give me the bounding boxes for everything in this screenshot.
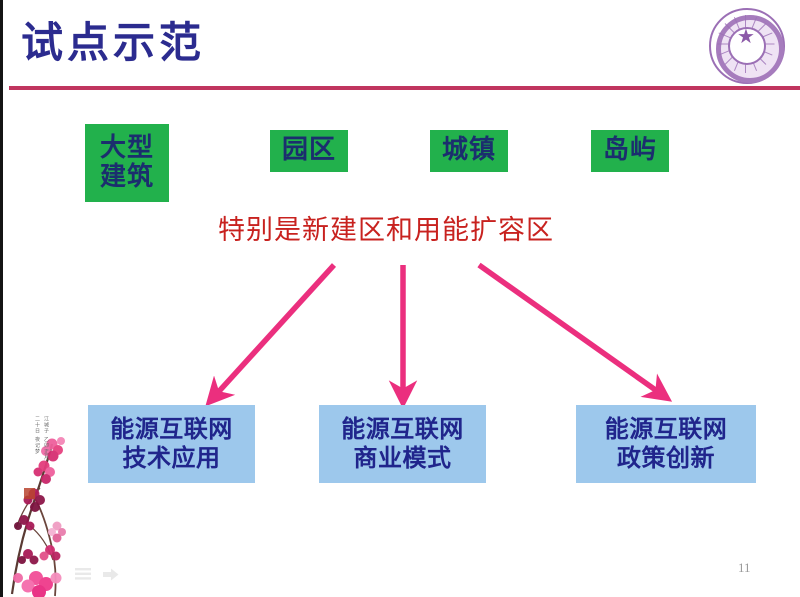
category-label-line: 大型 <box>100 134 154 163</box>
arrow-right <box>479 265 664 396</box>
list-lines-icon[interactable] <box>75 566 91 585</box>
university-seal-logo <box>709 8 785 84</box>
outcome-box-tech: 能源互联网 技术应用 <box>88 405 255 483</box>
outcome-label-line: 能源互联网 <box>110 415 233 444</box>
category-label-line: 岛屿 <box>603 136 657 165</box>
presentation-slide: 试点示范 大型 建筑 园区 城镇 岛屿 特别是新建区和用能扩容区 <box>0 0 800 597</box>
category-box-town: 城镇 <box>430 130 508 172</box>
category-box-building: 大型 建筑 <box>85 124 169 202</box>
next-arrow-icon[interactable] <box>103 566 119 585</box>
outcome-box-model: 能源互联网 商业模式 <box>319 405 486 483</box>
outcome-label-line: 能源互联网 <box>341 415 464 444</box>
category-label-line: 园区 <box>282 136 336 165</box>
outcome-label-line: 政策创新 <box>617 444 715 473</box>
category-box-park: 园区 <box>270 130 348 172</box>
slide-nav-icons[interactable] <box>75 566 119 585</box>
page-number: 11 <box>738 560 751 576</box>
outcome-label-line: 技术应用 <box>123 444 221 473</box>
category-box-island: 岛屿 <box>591 130 669 172</box>
outcome-label-line: 能源互联网 <box>605 415 728 444</box>
arrow-left <box>212 265 334 399</box>
emphasis-note: 特别是新建区和用能扩容区 <box>218 208 554 247</box>
outcome-box-policy: 能源互联网 政策创新 <box>576 405 756 483</box>
outcome-label-line: 商业模式 <box>354 444 452 473</box>
category-label-line: 城镇 <box>442 136 496 165</box>
calligraphy-text: 江城子 乙卯正月 二十日 夜记梦 <box>20 416 50 478</box>
title-divider-rule <box>9 86 800 90</box>
category-label-line: 建筑 <box>100 163 154 192</box>
red-seal-stamp <box>24 488 35 499</box>
page-title: 试点示范 <box>21 22 205 64</box>
